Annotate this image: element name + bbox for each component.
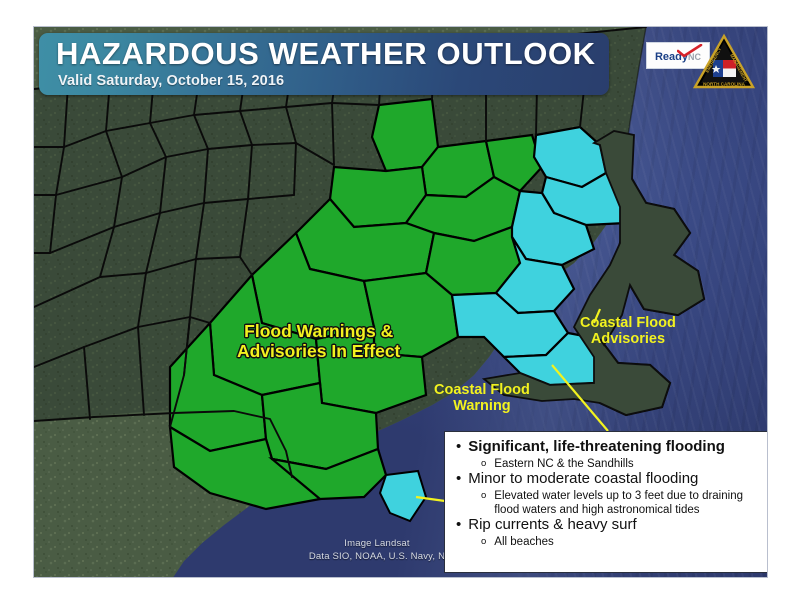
label-coastal-flood-warning: Coastal Flood Warning (434, 382, 530, 414)
bullet-text: Minor to moderate coastal flooding (468, 471, 698, 488)
graphic-frame: Flood Warnings & Advisories In Effect Co… (33, 26, 768, 578)
hazard-summary-box: • Significant, life-threatening flooding… (444, 431, 768, 573)
sub-bullet-item: o Eastern NC & the Sandhills (481, 457, 758, 471)
valid-date-subtitle: Valid Saturday, October 15, 2016 (58, 73, 284, 89)
sub-bullet-text: Elevated water levels up to 3 feet due t… (494, 489, 758, 517)
page-title: HAZARDOUS WEATHER OUTLOOK (56, 36, 596, 72)
title-banner: HAZARDOUS WEATHER OUTLOOK Valid Saturday… (39, 33, 609, 95)
nc-emergency-management-emblem[interactable]: EMERGENCY MANAGEMENT NORTH CAROLINA (693, 33, 755, 91)
coastal-flood-warning-region (380, 471, 426, 521)
sub-bullet-text: All beaches (494, 535, 553, 549)
bullet-dot-icon: • (456, 517, 461, 533)
bullet-text: Significant, life-threatening flooding (468, 439, 725, 456)
sub-bullet-item: o Elevated water levels up to 3 feet due… (481, 489, 758, 517)
bullet-text: Rip currents & heavy surf (468, 517, 636, 534)
slide-page: Flood Warnings & Advisories In Effect Co… (0, 0, 800, 600)
bullet-dot-icon: • (456, 471, 461, 487)
bullet-item: • Significant, life-threatening flooding (453, 439, 758, 456)
sub-bullet-item: o All beaches (481, 535, 758, 549)
emblem-bottom-text: NORTH CAROLINA (703, 81, 746, 86)
nc-flag-icon (712, 60, 736, 77)
sub-bullet-circle-icon: o (481, 457, 486, 471)
label-flood-warnings: Flood Warnings & Advisories In Effect (237, 322, 400, 361)
bullet-item: • Rip currents & heavy surf (453, 517, 758, 534)
sub-bullet-circle-icon: o (481, 489, 486, 503)
sub-bullet-circle-icon: o (481, 535, 486, 549)
bullet-dot-icon: • (456, 439, 461, 455)
bullet-item: • Minor to moderate coastal flooding (453, 471, 758, 488)
label-coastal-flood-advisories: Coastal Flood Advisories (580, 315, 676, 347)
sub-bullet-text: Eastern NC & the Sandhills (494, 457, 633, 471)
